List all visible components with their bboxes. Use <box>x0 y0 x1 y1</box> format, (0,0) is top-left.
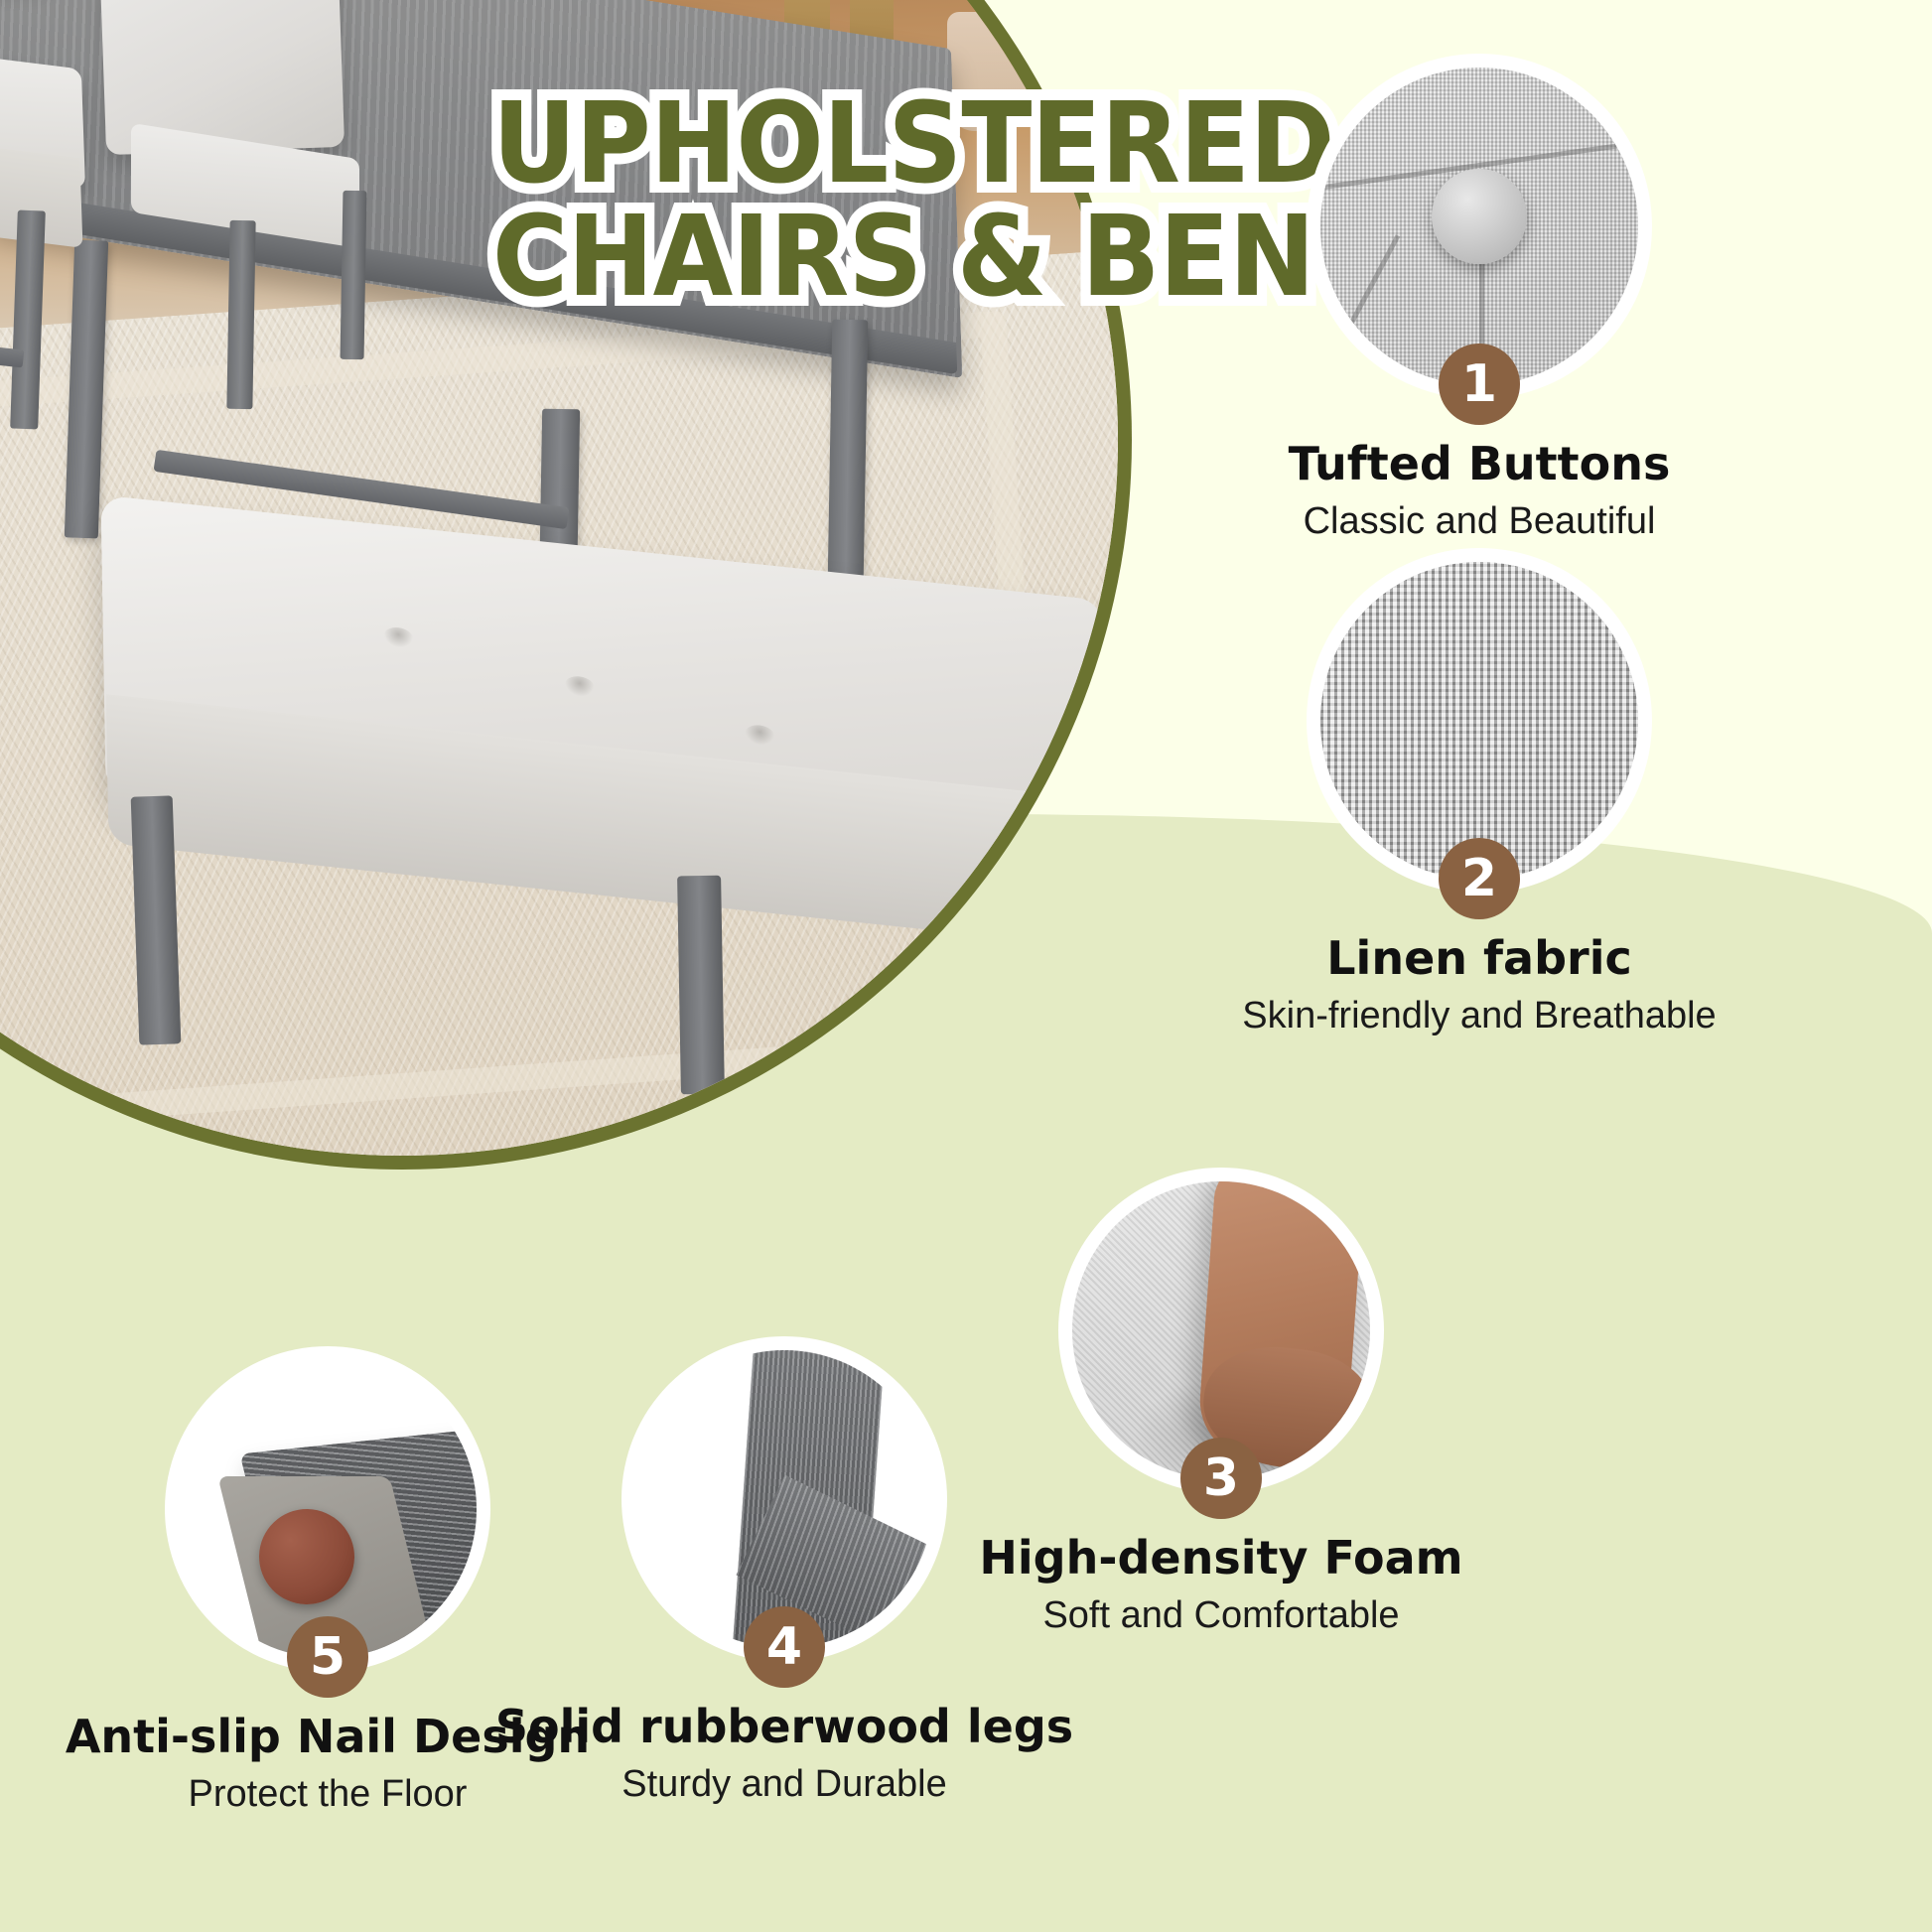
chair-leg <box>341 191 367 359</box>
feature-item-5: 5 Anti-slip Nail Design Protect the Floo… <box>20 1360 635 1816</box>
chair-leg <box>226 220 255 409</box>
linen-fabric-icon <box>1320 562 1638 880</box>
high-density-foam-icon <box>1072 1181 1370 1479</box>
table-leg <box>828 320 869 579</box>
fabric-seam <box>1321 141 1637 190</box>
feature-subtitle-2: Skin-friendly and Breathable <box>1152 995 1807 1037</box>
feature-item-2: 2 Linen fabric Skin-friendly and Breatha… <box>1152 562 1807 1037</box>
feature-subtitle-1: Classic and Beautiful <box>1172 500 1787 543</box>
rubberwood-leg-icon <box>635 1350 933 1648</box>
feature-title-2: Linen fabric <box>1152 931 1807 985</box>
feature-badge-5: 5 <box>287 1616 368 1698</box>
feature-badge-1: 1 <box>1439 344 1520 425</box>
tufted-button-icon <box>1320 68 1638 385</box>
bench-leg <box>131 795 182 1044</box>
title-line-2: CHAIRS & BENCH <box>492 201 1175 314</box>
infographic-stage: UPHOLSTERED CHAIRS & BENCH 1 Tufted Butt… <box>0 0 1932 1932</box>
feature-title-1: Tufted Buttons <box>1172 437 1787 490</box>
fabric-seam <box>1321 234 1401 377</box>
anti-slip-nail-icon <box>179 1360 477 1658</box>
feature-title-5: Anti-slip Nail Design <box>20 1710 635 1763</box>
feature-subtitle-5: Protect the Floor <box>20 1773 635 1816</box>
page-title: UPHOLSTERED CHAIRS & BENCH <box>492 87 1175 314</box>
feature-badge-4: 4 <box>744 1606 825 1688</box>
bench-tuft <box>564 675 594 698</box>
bench-tuft <box>383 626 413 649</box>
bench-tuft <box>746 724 775 747</box>
feature-badge-3: 3 <box>1180 1438 1262 1519</box>
feature-badge-2: 2 <box>1439 838 1520 919</box>
bench-leg <box>677 876 725 1095</box>
feature-item-1: 1 Tufted Buttons Classic and Beautiful <box>1172 68 1787 543</box>
